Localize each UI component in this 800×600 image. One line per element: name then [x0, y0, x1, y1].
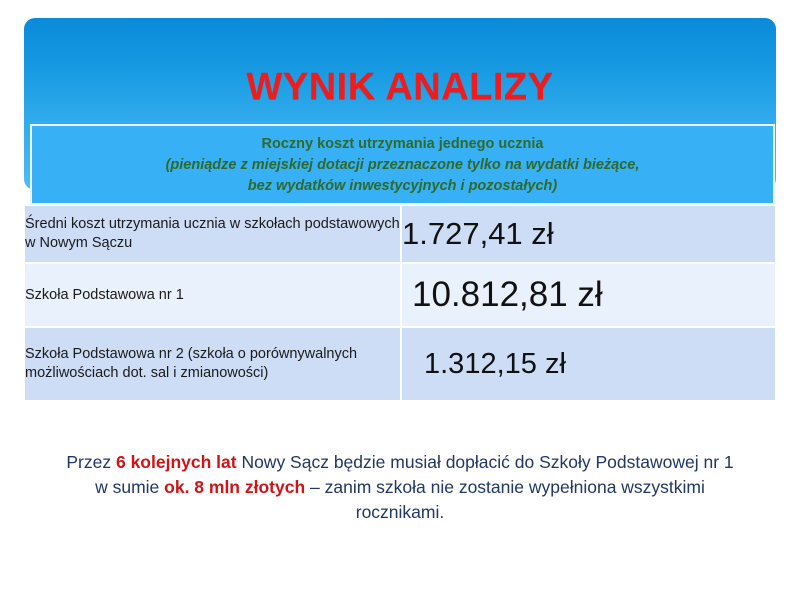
- table-row-label: Szkoła Podstawowa nr 2 (szkoła o porówny…: [25, 327, 401, 401]
- footer-highlight-2: ok. 8 mln złotych: [164, 477, 305, 497]
- table-row-label: Średni koszt utrzymania ucznia w szkołac…: [25, 206, 401, 263]
- table-row-value: 1.312,15 zł: [401, 327, 775, 401]
- footer-note: Przez 6 kolejnych lat Nowy Sącz będzie m…: [58, 450, 742, 525]
- table-row: Średni koszt utrzymania ucznia w szkołac…: [25, 206, 775, 263]
- footer-highlight-1: 6 kolejnych lat: [116, 452, 237, 472]
- table-row-label: Szkoła Podstawowa nr 1: [25, 263, 401, 327]
- cost-table: Średni koszt utrzymania ucznia w szkołac…: [25, 206, 775, 402]
- table-row-value: 1.727,41 zł: [401, 206, 775, 263]
- table-caption-box: Roczny koszt utrzymania jednego ucznia (…: [30, 124, 775, 205]
- footer-text-1: Przez: [66, 452, 116, 472]
- table-row: Szkoła Podstawowa nr 2 (szkoła o porówny…: [25, 327, 775, 401]
- page-title: WYNIK ANALIZY: [24, 66, 776, 109]
- caption-line-3: bez wydatków inwestycyjnych i pozostałyc…: [248, 176, 557, 197]
- table-row: Szkoła Podstawowa nr 1 10.812,81 zł: [25, 263, 775, 327]
- footer-text-3: – zanim szkoła nie zostanie wypełniona w…: [305, 477, 705, 522]
- table-row-value: 10.812,81 zł: [401, 263, 775, 327]
- caption-line-2: (pieniądze z miejskiej dotacji przeznacz…: [166, 155, 640, 176]
- slide-canvas: WYNIK ANALIZY Roczny koszt utrzymania je…: [0, 0, 800, 600]
- caption-line-1: Roczny koszt utrzymania jednego ucznia: [262, 134, 544, 155]
